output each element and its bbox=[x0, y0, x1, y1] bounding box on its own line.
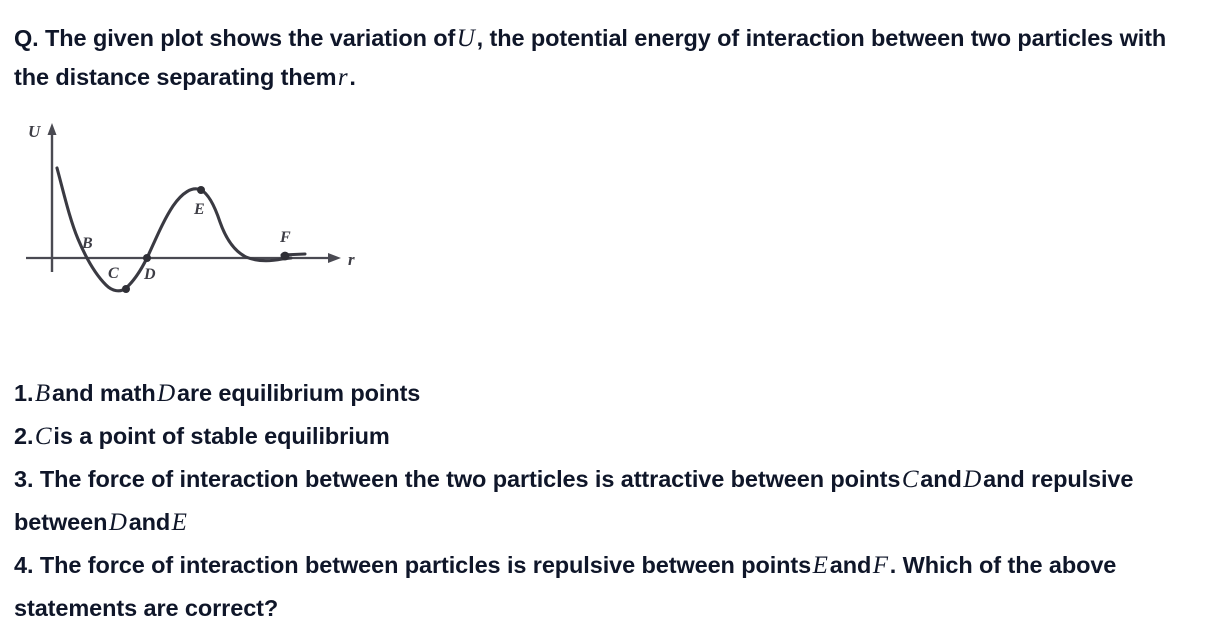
point-marker-c bbox=[122, 285, 130, 293]
point-marker-e bbox=[197, 186, 205, 194]
statement-3-math-c: C bbox=[900, 466, 920, 493]
statement-1-math-b: B bbox=[33, 380, 52, 407]
y-axis bbox=[48, 123, 57, 272]
x-axis-title: r bbox=[348, 250, 355, 269]
statement-list: 1.Band mathDare equilibrium points 2.Cis… bbox=[14, 372, 1200, 630]
statement-3-text-d: and bbox=[129, 509, 170, 535]
statement-3-math-e: E bbox=[170, 509, 189, 536]
statement-3-math-d2: D bbox=[107, 509, 128, 536]
potential-energy-curve bbox=[57, 168, 291, 291]
point-label-c: C bbox=[108, 265, 119, 282]
y-axis-title: U bbox=[28, 122, 41, 141]
statement-4: 4. The force of interaction between part… bbox=[14, 544, 1200, 630]
statement-3: 3. The force of interaction between the … bbox=[14, 458, 1200, 544]
statement-1-number: 1. bbox=[14, 380, 33, 406]
statement-1-text-b: are equilibrium points bbox=[177, 380, 420, 406]
statement-4-text-a: 4. The force of interaction between part… bbox=[14, 552, 811, 578]
statement-3-math-d1: D bbox=[962, 466, 983, 493]
plot-svg: U r B C D E F bbox=[8, 112, 388, 307]
potential-energy-plot: U r B C D E F bbox=[8, 112, 388, 307]
point-label-f: F bbox=[279, 229, 291, 246]
point-label-e: E bbox=[193, 201, 205, 218]
point-marker-f bbox=[281, 252, 290, 261]
question-prefix: Q. The given plot shows the variation of bbox=[14, 25, 455, 51]
statement-1-math-d: D bbox=[156, 380, 177, 407]
statement-2-text: is a point of stable equilibrium bbox=[53, 423, 389, 449]
statement-3-text-b: and bbox=[920, 466, 961, 492]
math-var-U: U bbox=[455, 25, 476, 52]
question-text: Q. The given plot shows the variation of… bbox=[14, 0, 1197, 97]
statement-4-text-b: and bbox=[830, 552, 871, 578]
statement-1-text-a: and math bbox=[52, 380, 156, 406]
point-label-d: D bbox=[143, 266, 156, 283]
statement-4-math-e: E bbox=[811, 552, 830, 579]
statement-1: 1.Band mathDare equilibrium points bbox=[14, 372, 1200, 415]
statement-2: 2.Cis a point of stable equilibrium bbox=[14, 415, 1200, 458]
statement-2-number: 2. bbox=[14, 423, 33, 449]
point-label-b: B bbox=[81, 235, 93, 252]
question-page: Q. The given plot shows the variation of… bbox=[0, 0, 1211, 632]
statement-4-math-f: F bbox=[871, 552, 890, 579]
question-text-end: . bbox=[349, 64, 355, 90]
point-marker-d bbox=[143, 254, 151, 262]
statement-2-math-c: C bbox=[33, 423, 53, 450]
math-var-r: r bbox=[336, 64, 349, 91]
statement-3-text-a: 3. The force of interaction between the … bbox=[14, 466, 900, 492]
